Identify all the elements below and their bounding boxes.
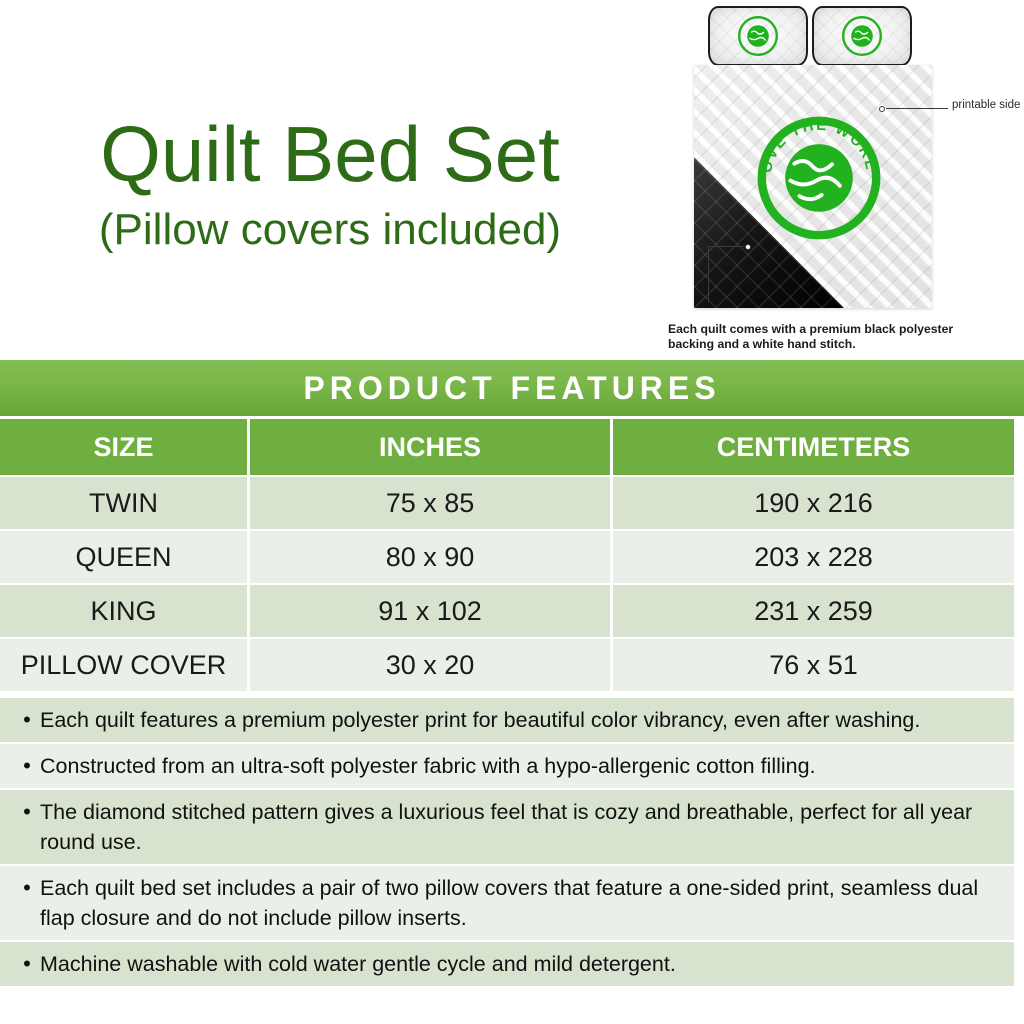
features-list: • Each quilt features a premium polyeste… bbox=[0, 698, 1014, 988]
product-features-table: PRODUCT FEATURES SIZE INCHES CENTIMETERS… bbox=[0, 360, 1024, 691]
pillow-left bbox=[708, 6, 808, 66]
bullet-icon: • bbox=[14, 873, 40, 903]
cell-inches: 80 x 90 bbox=[250, 531, 613, 583]
feature-text: Constructed from an ultra-soft polyester… bbox=[40, 751, 1004, 781]
list-item: • Constructed from an ultra-soft polyest… bbox=[0, 744, 1014, 788]
cell-size: TWIN bbox=[0, 477, 250, 529]
product-image-caption: Each quilt comes with a premium black po… bbox=[668, 322, 968, 351]
bullet-icon: • bbox=[14, 797, 40, 827]
love-the-world-logo-icon bbox=[842, 16, 882, 56]
printable-side-marker-icon bbox=[879, 106, 885, 112]
hero-section: Quilt Bed Set (Pillow covers included) bbox=[0, 0, 1024, 360]
table-row: QUEEN 80 x 90 203 x 228 bbox=[0, 531, 1014, 583]
table-header-row: SIZE INCHES CENTIMETERS bbox=[0, 419, 1014, 475]
list-item: • Each quilt bed set includes a pair of … bbox=[0, 866, 1014, 940]
cell-inches: 30 x 20 bbox=[250, 639, 613, 691]
love-the-world-logo-icon bbox=[738, 16, 778, 56]
pillow-right bbox=[812, 6, 912, 66]
cell-size: QUEEN bbox=[0, 531, 250, 583]
page-subtitle: (Pillow covers included) bbox=[0, 202, 660, 258]
list-item: • Each quilt features a premium polyeste… bbox=[0, 698, 1014, 742]
bullet-icon: • bbox=[14, 949, 40, 979]
backing-leader-line-vertical bbox=[708, 246, 709, 302]
list-item: • The diamond stitched pattern gives a l… bbox=[0, 790, 1014, 864]
column-header-centimeters: CENTIMETERS bbox=[613, 419, 1014, 475]
table-row: PILLOW COVER 30 x 20 76 x 51 bbox=[0, 639, 1014, 691]
feature-text: Each quilt features a premium polyester … bbox=[40, 705, 1004, 735]
table-row: KING 91 x 102 231 x 259 bbox=[0, 585, 1014, 637]
feature-text: Each quilt bed set includes a pair of tw… bbox=[40, 873, 1004, 933]
page-title: Quilt Bed Set bbox=[0, 112, 660, 196]
title-block: Quilt Bed Set (Pillow covers included) bbox=[0, 112, 660, 258]
cell-size: PILLOW COVER bbox=[0, 639, 250, 691]
bullet-icon: • bbox=[14, 705, 40, 735]
cell-size: KING bbox=[0, 585, 250, 637]
quilt-blanket: LOVE THE WORLD bbox=[694, 65, 932, 308]
cell-centimeters: 231 x 259 bbox=[613, 585, 1014, 637]
printable-side-leader-line bbox=[886, 108, 948, 109]
cell-inches: 75 x 85 bbox=[250, 477, 613, 529]
backing-leader-line-horizontal bbox=[708, 246, 746, 247]
love-the-world-logo-icon: LOVE THE WORLD bbox=[754, 113, 884, 243]
column-header-size: SIZE bbox=[0, 419, 250, 475]
cell-centimeters: 203 x 228 bbox=[613, 531, 1014, 583]
cell-centimeters: 190 x 216 bbox=[613, 477, 1014, 529]
cell-centimeters: 76 x 51 bbox=[613, 639, 1014, 691]
bullet-icon: • bbox=[14, 751, 40, 781]
table-row: TWIN 75 x 85 190 x 216 bbox=[0, 477, 1014, 529]
feature-text: Machine washable with cold water gentle … bbox=[40, 949, 1004, 979]
cell-inches: 91 x 102 bbox=[250, 585, 613, 637]
feature-text: The diamond stitched pattern gives a lux… bbox=[40, 797, 1004, 857]
backing-marker-icon bbox=[745, 244, 751, 250]
list-item: • Machine washable with cold water gentl… bbox=[0, 942, 1014, 986]
table-title: PRODUCT FEATURES bbox=[0, 360, 1024, 416]
product-image: LOVE THE WORLD printable side Each quilt… bbox=[660, 0, 1024, 360]
column-header-inches: INCHES bbox=[250, 419, 613, 475]
printable-side-label: printable side bbox=[952, 98, 1024, 113]
